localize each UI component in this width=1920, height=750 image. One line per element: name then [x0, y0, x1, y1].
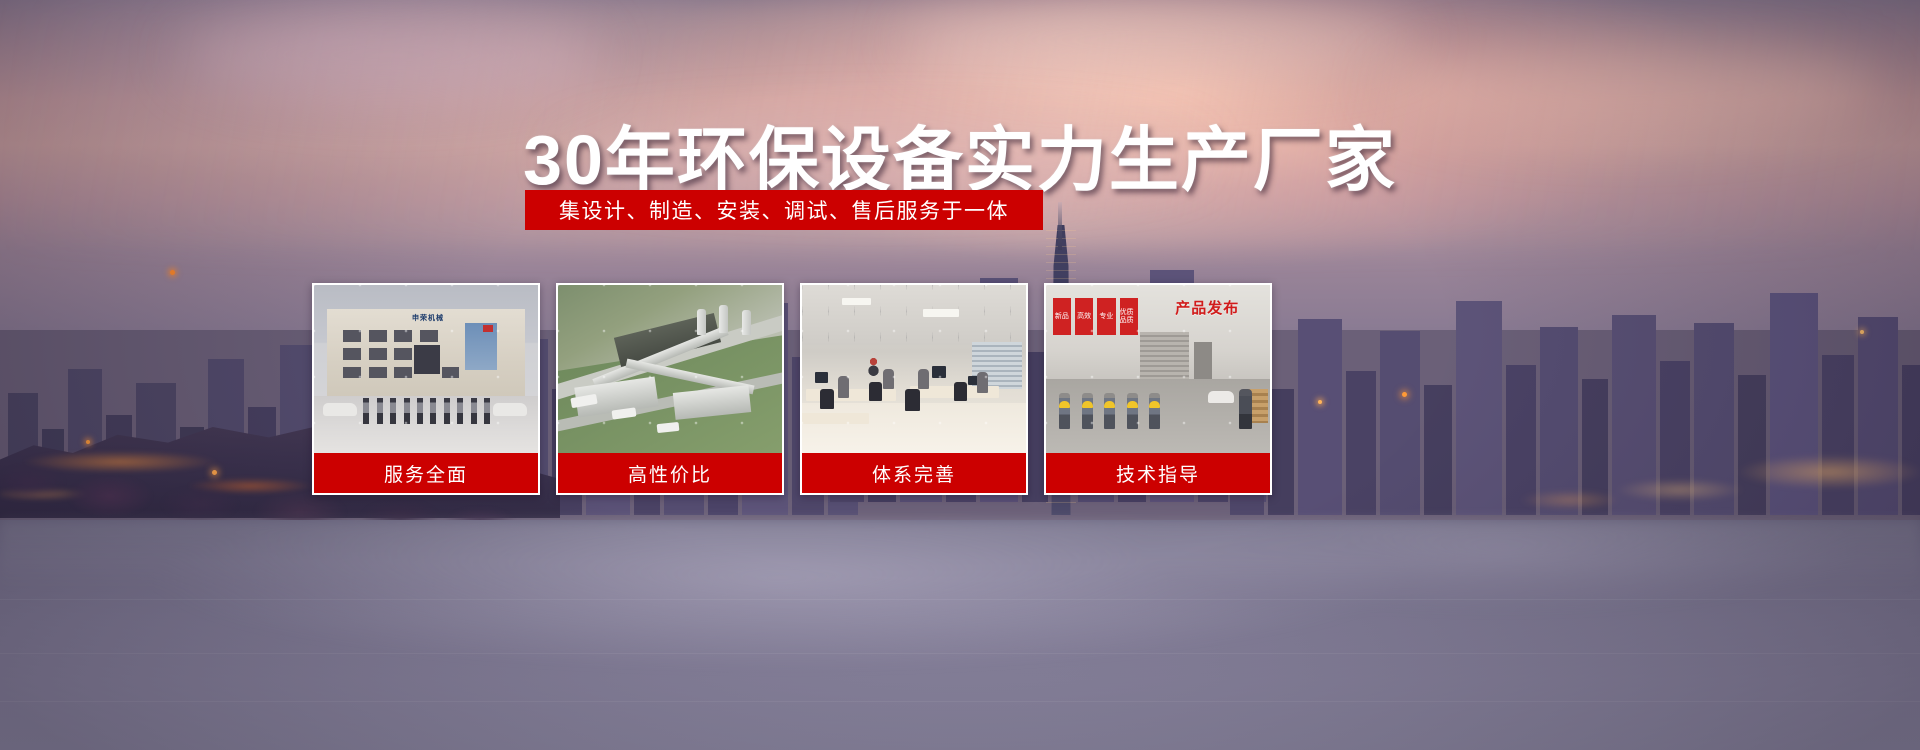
staff-member: [417, 398, 423, 424]
building: [1380, 331, 1420, 515]
office-worker: [977, 372, 988, 393]
safety-helmet-icon: [1104, 401, 1115, 408]
card-photo-aerial-plant: [558, 285, 782, 453]
banner-column: 新品: [1053, 298, 1071, 335]
light-spark: [1402, 392, 1407, 397]
monitor: [932, 366, 946, 378]
safety-helmet-icon: [1082, 401, 1093, 408]
worker: [1104, 393, 1115, 429]
supervisor: [1239, 389, 1252, 429]
parked-car: [493, 403, 527, 416]
building: [1456, 301, 1502, 515]
building: [1424, 385, 1452, 515]
light-spark: [1318, 400, 1322, 404]
staff-member: [471, 398, 477, 424]
truck: [656, 422, 679, 433]
worker: [1149, 393, 1160, 429]
window: [369, 330, 387, 342]
photo-scene: [802, 285, 1026, 453]
photo-scene: [558, 285, 782, 453]
banner-column: 专业: [1097, 298, 1115, 335]
building: [1298, 319, 1342, 515]
building-entrance: [414, 345, 440, 374]
hero-banner: 30年环保设备实力生产厂家 集设计、制造、安装、调试、售后服务于一体 申荣机械: [0, 0, 1920, 750]
staff-member: [457, 398, 463, 424]
card-label: 高性价比: [558, 453, 782, 493]
card-photo-open-office: [802, 285, 1026, 453]
window: [369, 348, 387, 360]
banner-column: 优质品质: [1120, 298, 1138, 335]
window: [394, 330, 412, 342]
card-label: 服务全面: [314, 453, 538, 493]
storage-silo: [742, 310, 751, 335]
safety-helmet-icon: [1127, 401, 1138, 408]
ceiling-light-panel: [842, 298, 871, 305]
tower-spire: [1058, 202, 1062, 250]
light-spark: [1860, 330, 1864, 334]
window: [420, 330, 438, 342]
building-sign-text: 申荣机械: [387, 315, 470, 322]
office-building: 申荣机械: [327, 309, 524, 400]
banner-column: 高效: [1075, 298, 1093, 335]
staff-member: [377, 398, 383, 424]
worker: [1127, 393, 1138, 429]
parked-car: [1208, 391, 1234, 403]
building: [1346, 371, 1376, 515]
window: [369, 367, 387, 379]
office-worker: [883, 369, 894, 389]
staff-member: [404, 398, 410, 424]
card-photo-office-building: 申荣机械: [314, 285, 538, 453]
vertical-banner-group: 新品 高效 专业 优质品质: [1053, 298, 1138, 335]
parked-car: [323, 403, 357, 416]
staff-member: [484, 398, 490, 424]
staff-member: [444, 398, 450, 424]
banner-subtitle-text: 集设计、制造、安装、调试、售后服务于一体: [559, 195, 1009, 225]
window: [442, 367, 460, 379]
worker: [1082, 393, 1093, 429]
card-label: 体系完善: [802, 453, 1026, 493]
ceiling-tile-grid: [802, 285, 1026, 345]
window: [343, 367, 361, 379]
right-bank-lights-glow: [1500, 322, 1920, 522]
monitor: [815, 372, 828, 383]
staff-member: [363, 398, 369, 424]
office-chair: [820, 389, 834, 409]
flag: [483, 325, 493, 332]
feature-card-row: 申荣机械: [312, 283, 1272, 495]
office-chair: [954, 382, 967, 401]
feature-card[interactable]: 申荣机械: [312, 283, 540, 495]
light-spark: [86, 440, 90, 444]
banner-subtitle-bar: 集设计、制造、安装、调试、售后服务于一体: [525, 190, 1043, 230]
window: [343, 348, 361, 360]
feature-card[interactable]: 产品发布 新品 高效 专业 优质品质: [1044, 283, 1272, 495]
office-worker: [838, 376, 849, 398]
card-photo-factory-workers: 产品发布 新品 高效 专业 优质品质: [1046, 285, 1270, 453]
window: [394, 367, 412, 379]
office-worker: [918, 369, 929, 389]
staff-member: [390, 398, 396, 424]
light-spark: [212, 470, 217, 475]
safety-helmet-icon: [1149, 401, 1160, 408]
water-ripple-line: [0, 653, 1920, 654]
feature-card[interactable]: 体系完善: [800, 283, 1028, 495]
water-ripple-line: [0, 701, 1920, 702]
ceiling-light-panel: [923, 309, 959, 317]
worker: [1059, 393, 1070, 429]
water-ripple-line: [0, 599, 1920, 600]
card-label: 技术指导: [1046, 453, 1270, 493]
factory-sign-text: 产品发布: [1149, 293, 1265, 322]
office-chair: [905, 389, 920, 411]
photo-scene: 产品发布 新品 高效 专业 优质品质: [1046, 285, 1270, 453]
staff-member: [430, 398, 436, 424]
window: [343, 330, 361, 342]
light-spark: [170, 270, 175, 275]
desk: [802, 413, 869, 425]
feature-card[interactable]: 高性价比: [556, 283, 784, 495]
water-reflection-sheen: [0, 520, 1920, 750]
office-chair: [869, 382, 882, 401]
storage-silo: [719, 305, 728, 333]
window: [394, 348, 412, 360]
photo-scene: 申荣机械: [314, 285, 538, 453]
storage-silo: [697, 309, 706, 335]
